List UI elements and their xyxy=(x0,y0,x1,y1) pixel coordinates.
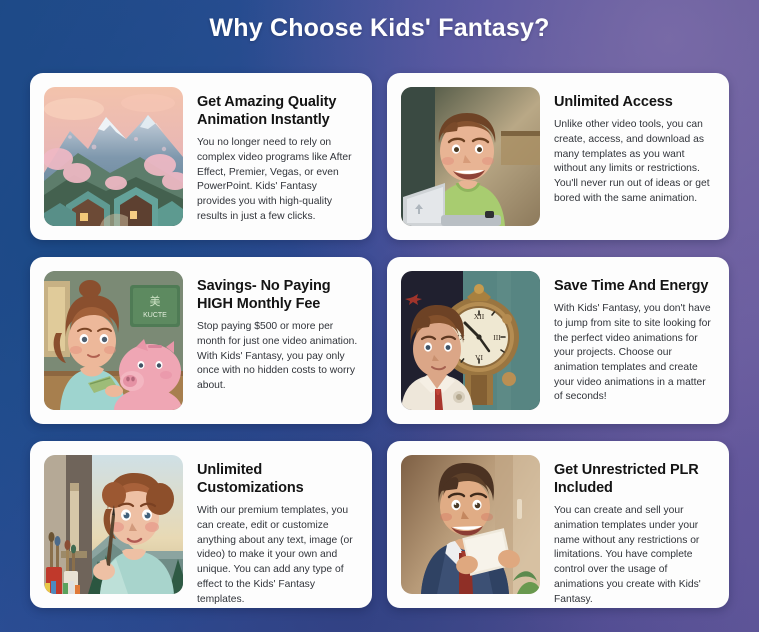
feature-card-body: Unlimited Customizations With our premiu… xyxy=(183,455,358,607)
feature-card-body: Save Time And Energy With Kids' Fantasy,… xyxy=(540,271,715,405)
svg-text:美: 美 xyxy=(150,295,161,308)
feature-card-text: Unlike other video tools, you can create… xyxy=(554,118,715,206)
smiling-boy-at-laptop-illustration xyxy=(401,87,540,226)
feature-card-body: Get Amazing Quality Animation Instantly … xyxy=(183,87,358,225)
feature-card[interactable]: Unlimited Customizations With our premiu… xyxy=(30,441,372,608)
feature-card-grid: Get Amazing Quality Animation Instantly … xyxy=(30,73,729,608)
girl-with-money-and-piggy-bank-illustration: 美 KUCTE xyxy=(44,271,183,410)
feature-card-title: Get Amazing Quality Animation Instantly xyxy=(197,93,358,129)
page-title: Why Choose Kids' Fantasy? xyxy=(0,14,759,43)
mountain-village-cherry-blossom-illustration xyxy=(44,87,183,226)
feature-card[interactable]: Get Amazing Quality Animation Instantly … xyxy=(30,73,372,240)
feature-card[interactable]: Get Unrestricted PLR Included You can cr… xyxy=(387,441,729,608)
feature-card-text: Stop paying $500 or more per month for j… xyxy=(197,320,358,394)
svg-text:III: III xyxy=(493,333,501,342)
boy-with-large-clock-illustration: XIIIIIVIIX xyxy=(401,271,540,410)
feature-card-title: Get Unrestricted PLR Included xyxy=(554,461,715,497)
feature-card-body: Unlimited Access Unlike other video tool… xyxy=(540,87,715,206)
boy-in-suit-holding-paper-illustration xyxy=(401,455,540,594)
feature-card-title: Unlimited Access xyxy=(554,93,715,111)
feature-card-title: Save Time And Energy xyxy=(554,277,715,295)
svg-text:XII: XII xyxy=(474,312,485,321)
feature-card-text: You can create and sell your animation t… xyxy=(554,504,715,607)
feature-card-text: With Kids' Fantasy, you don't have to ju… xyxy=(554,302,715,405)
feature-card[interactable]: XIIIIIVIIX xyxy=(387,257,729,424)
feature-card-title: Unlimited Customizations xyxy=(197,461,358,497)
feature-card-text: You no longer need to rely on complex vi… xyxy=(197,136,358,224)
feature-card-body: Savings- No Paying HIGH Monthly Fee Stop… xyxy=(183,271,358,394)
feature-card-body: Get Unrestricted PLR Included You can cr… xyxy=(540,455,715,607)
feature-section-page: Why Choose Kids' Fantasy? xyxy=(0,0,759,632)
feature-card[interactable]: Unlimited Access Unlike other video tool… xyxy=(387,73,729,240)
feature-card-text: With our premium templates, you can crea… xyxy=(197,504,358,607)
svg-text:VI: VI xyxy=(475,353,483,362)
feature-card-title: Savings- No Paying HIGH Monthly Fee xyxy=(197,277,358,313)
svg-text:KUCTE: KUCTE xyxy=(143,312,167,319)
girl-artist-painting-illustration xyxy=(44,455,183,594)
feature-card[interactable]: 美 KUCTE xyxy=(30,257,372,424)
